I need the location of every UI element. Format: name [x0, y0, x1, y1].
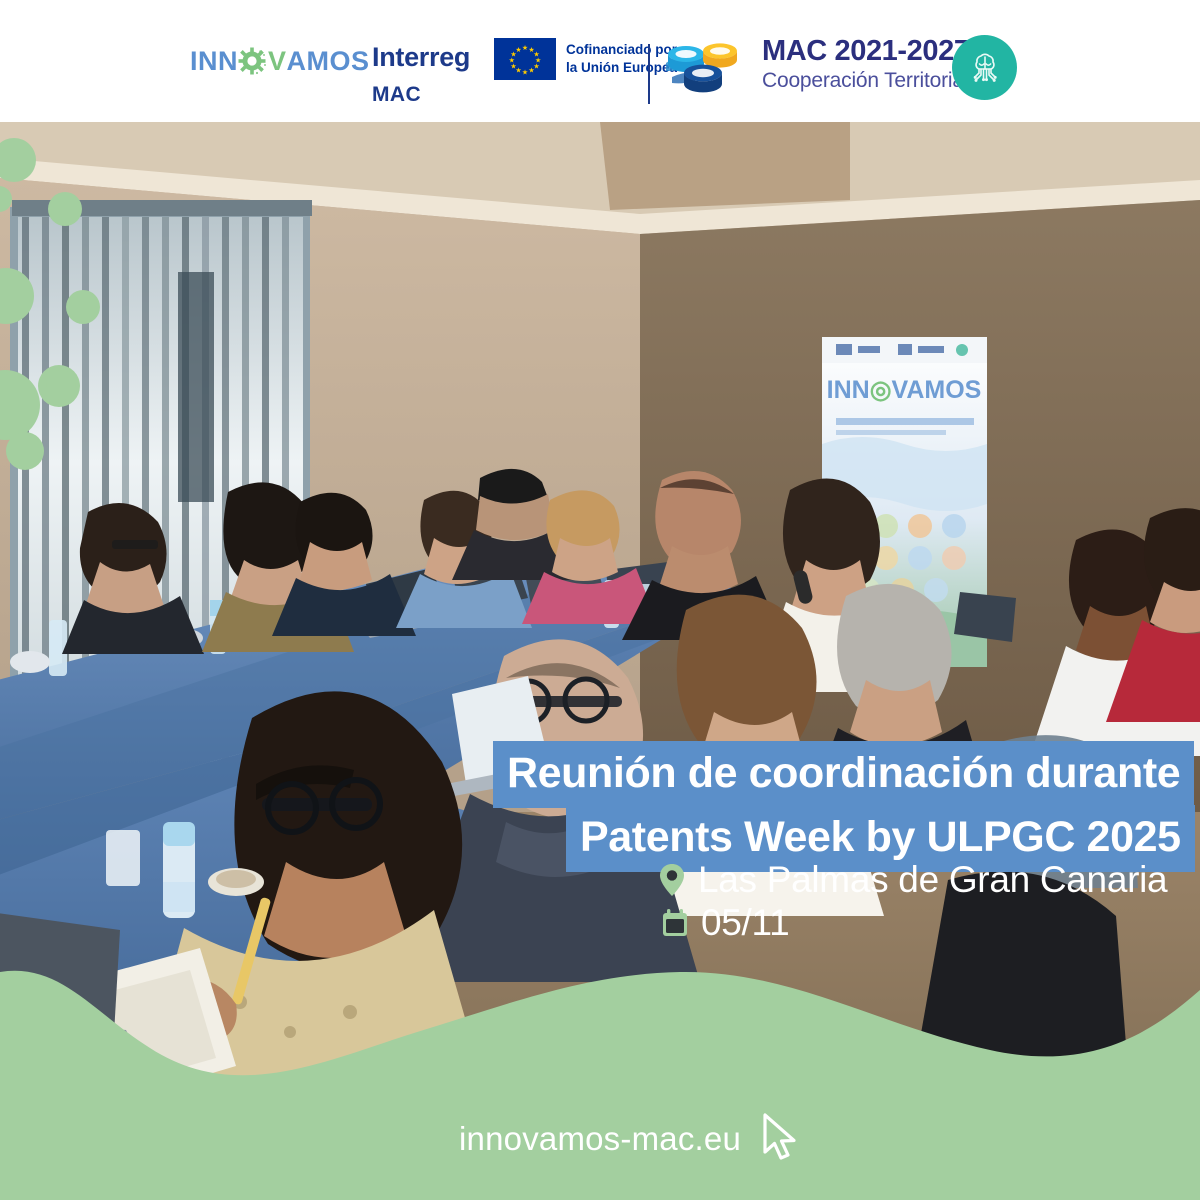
interreg-sub-label: MAC — [372, 83, 470, 108]
calendar-icon — [660, 905, 690, 941]
svg-text:★: ★ — [528, 67, 534, 75]
interreg-logo: Interreg MAC — [372, 42, 470, 108]
gear-icon — [238, 46, 268, 76]
map-pin-icon — [657, 862, 687, 898]
text-overlay: Reunión de coordinación durante Patents … — [0, 0, 1200, 1200]
brand-circle-badge — [952, 35, 1017, 100]
calendar-glyph — [661, 908, 689, 938]
innovamos-text-part3: AMOS — [287, 46, 370, 77]
mac-subtitle: Cooperación Territorial — [762, 69, 970, 92]
brain-network-icon — [963, 46, 1007, 90]
poster-canvas: INN◎VAMOS — [0, 0, 1200, 1200]
gear-glyph — [238, 46, 268, 76]
mac-rings-icon — [662, 33, 752, 95]
mac-text-block: MAC 2021-2027 Cooperación Territorial — [762, 36, 970, 92]
innovamos-text-part1: INN — [190, 46, 238, 77]
mac-logo: MAC 2021-2027 Cooperación Territorial — [662, 33, 970, 95]
event-title-line-1: Reunión de coordinación durante — [493, 741, 1194, 808]
header-divider — [648, 44, 650, 104]
mouse-pointer-icon — [760, 1112, 804, 1164]
eu-flag-glyph: ★ ★ ★ ★ ★ ★ ★ ★ ★ ★ ★ ★ — [494, 38, 556, 80]
svg-text:★: ★ — [522, 69, 528, 77]
date-label: 05/11 — [701, 902, 789, 944]
location-label: Las Palmas de Gran Canaria — [698, 859, 1167, 901]
eu-cofunding-text: Cofinanciado por la Unión Europea — [566, 41, 677, 77]
map-pin-glyph — [659, 863, 685, 897]
svg-text:★: ★ — [522, 44, 528, 52]
website-url[interactable]: innovamos-mac.eu — [0, 1120, 1200, 1158]
eu-flag-icon: ★ ★ ★ ★ ★ ★ ★ ★ ★ ★ ★ ★ — [494, 38, 556, 80]
innovamos-text-part2: V — [268, 46, 287, 77]
event-location: Las Palmas de Gran Canaria — [657, 859, 1167, 901]
eu-text-line1: Cofinanciado por — [566, 41, 677, 59]
mac-title: MAC 2021-2027 — [762, 36, 970, 68]
innovamos-logo: INN — [190, 44, 370, 78]
interreg-main-label: Interreg — [372, 42, 470, 74]
svg-text:★: ★ — [515, 67, 521, 75]
eu-text-line2: la Unión Europea — [566, 59, 677, 77]
header-bar: INN — [0, 0, 1200, 122]
mac-rings-glyph — [662, 33, 752, 95]
event-date: 05/11 — [660, 902, 789, 944]
